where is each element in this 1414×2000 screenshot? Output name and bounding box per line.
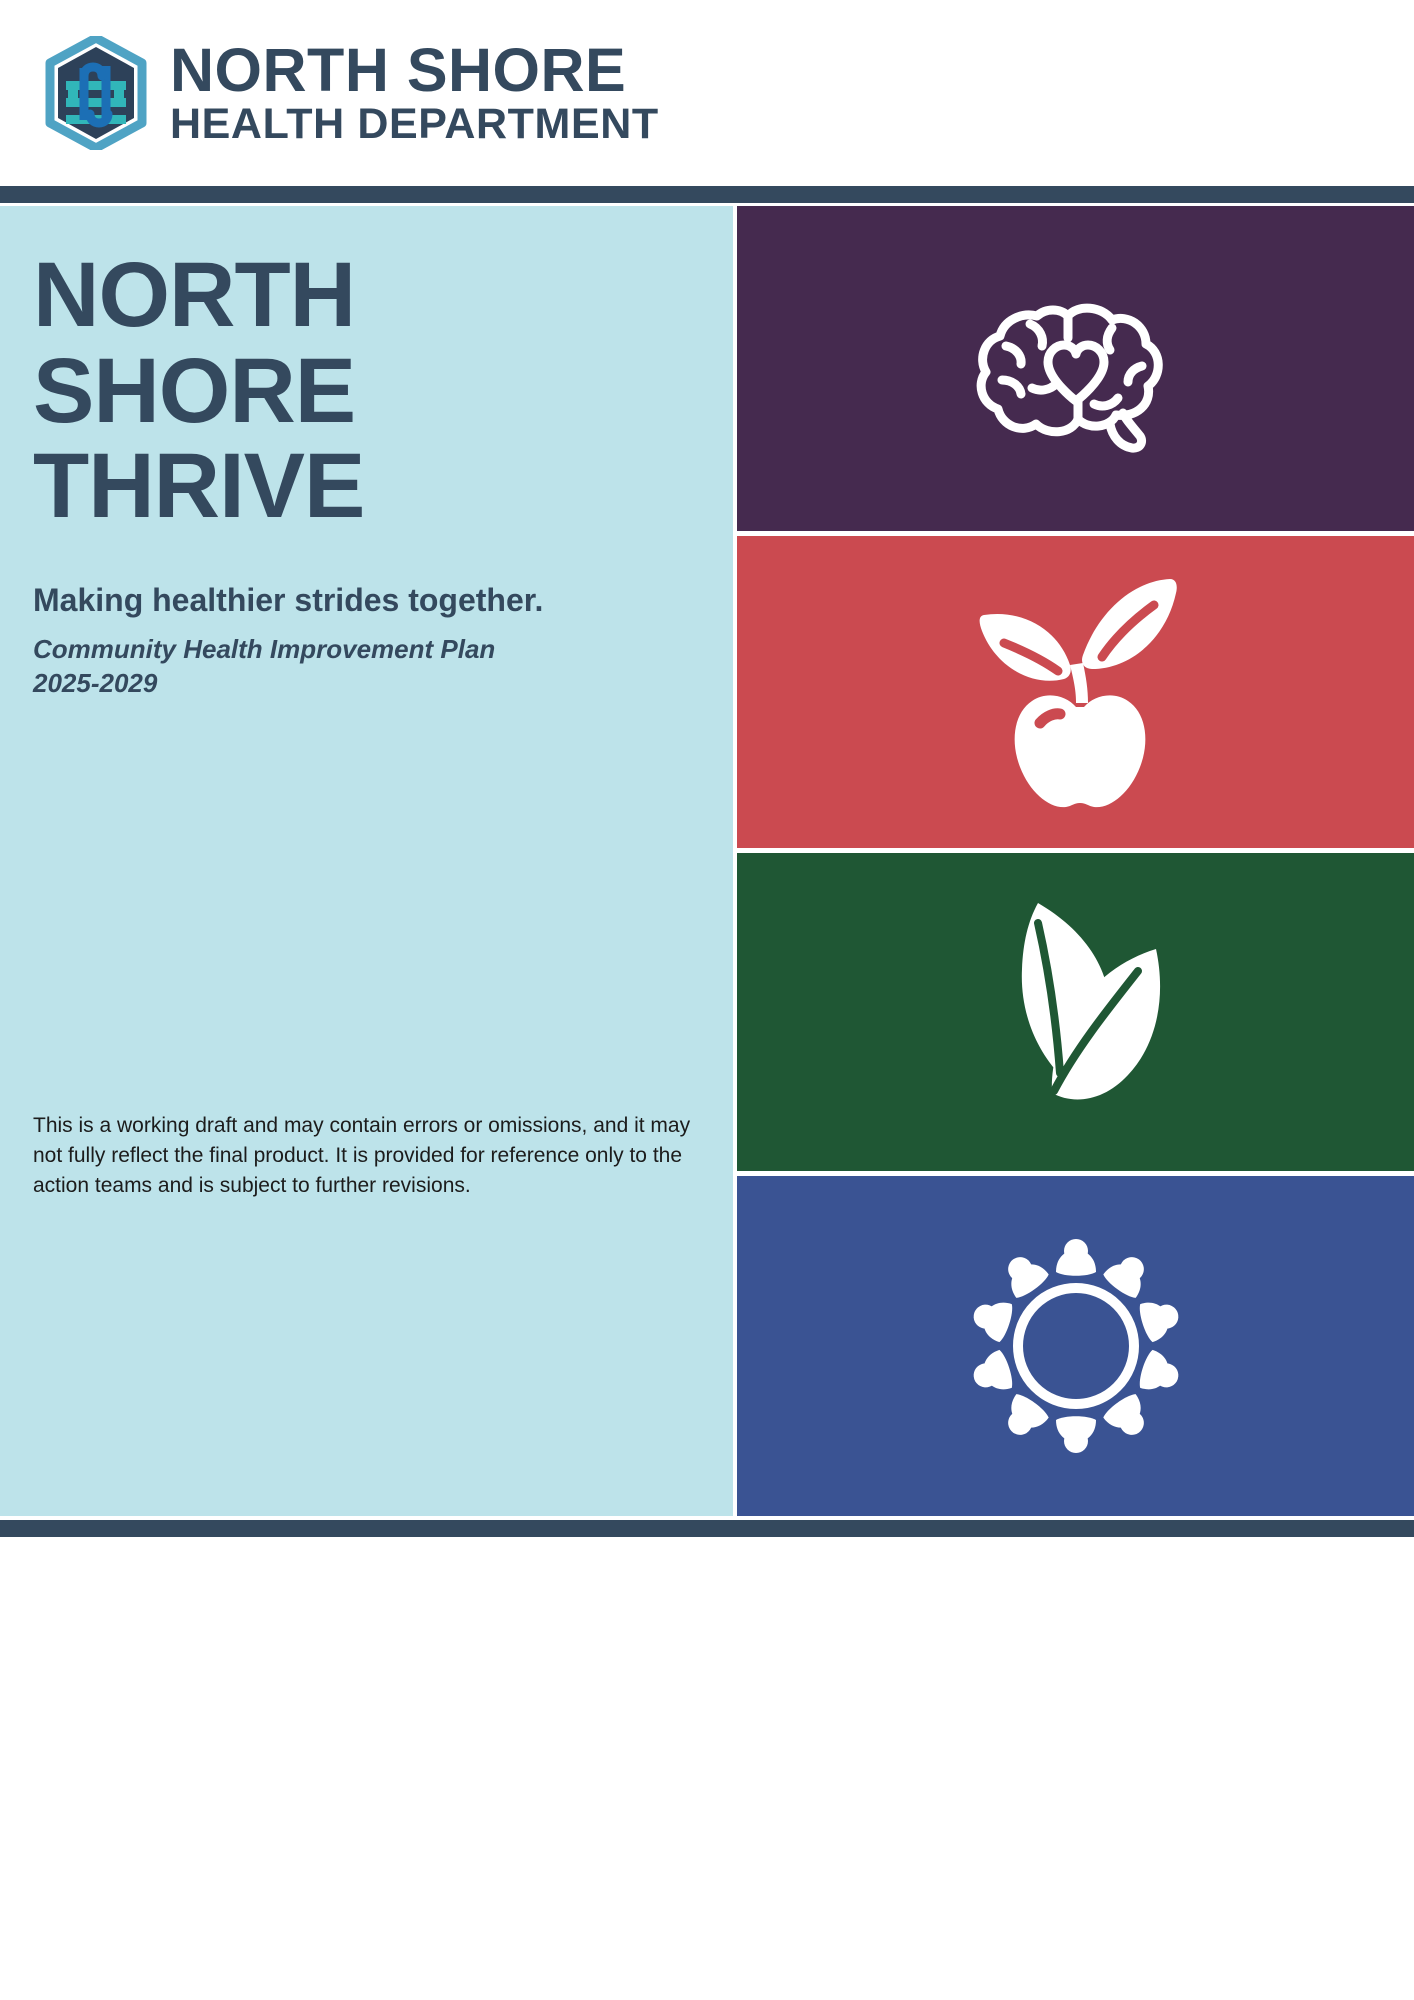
cover-left-panel: NORTH SHORE THRIVE Making healthier stri… [0,206,733,1516]
two-leaves-icon [976,897,1176,1127]
title-line-1: NORTH [33,248,697,344]
cover-subtitle: Community Health Improvement Plan 2025-2… [33,633,697,701]
subtitle-line-1: Community Health Improvement Plan [33,633,697,667]
org-name-line1: NORTH SHORE [170,39,659,101]
icon-panel-mental-health [737,206,1414,531]
title-line-2: SHORE [33,344,697,440]
hexagon-badge-ns-logo-icon [44,36,148,150]
footer-divider-rule [0,1520,1414,1537]
apple-with-leaves-icon [970,569,1182,815]
icon-panel-column [737,206,1414,1516]
page-title: NORTH SHORE THRIVE [33,248,697,535]
cover-tagline: Making healthier strides together. [33,581,697,619]
brain-with-heart-icon [960,276,1192,462]
icon-panel-community [737,1176,1414,1516]
org-name-line2: HEALTH DEPARTMENT [170,101,659,147]
subtitle-line-2: 2025-2029 [33,667,697,701]
header-divider-rule [0,186,1414,203]
people-circle-icon [968,1238,1184,1454]
footer-whitespace [0,1537,1414,2000]
page-header: NORTH SHORE HEALTH DEPARTMENT [0,0,1414,186]
icon-panel-environment [737,853,1414,1171]
title-line-3: THRIVE [33,439,697,535]
icon-panel-nutrition [737,536,1414,848]
organization-wordmark: NORTH SHORE HEALTH DEPARTMENT [170,39,659,148]
draft-disclaimer-text: This is a working draft and may contain … [33,1111,705,1200]
cover-main: NORTH SHORE THRIVE Making healthier stri… [0,206,1414,1516]
